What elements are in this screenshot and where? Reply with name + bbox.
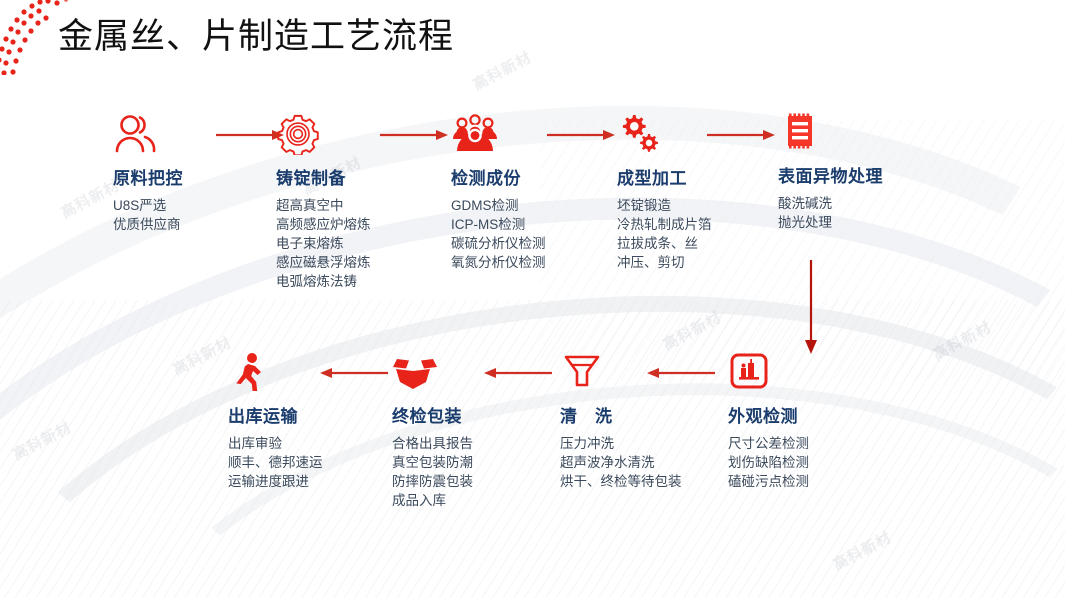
step-detail-line: 压力冲洗 bbox=[560, 434, 690, 453]
step-detail-line: 感应磁悬浮熔炼 bbox=[276, 253, 394, 272]
step-detail-line: 烘干、终检等待包装 bbox=[560, 472, 690, 491]
flow-step-ingot-preparation[interactable]: 铸锭制备 超高真空中 高频感应炉熔炼 电子束熔炼 感应磁悬浮熔炼 电弧熔炼法铸 bbox=[276, 110, 476, 291]
flow-step-appearance-inspection[interactable]: 外观检测 尺寸公差检测 划伤缺陷检测 磕碰污点检测 bbox=[728, 348, 928, 491]
step-detail-line: 超声波净水清洗 bbox=[560, 453, 690, 472]
step-detail-line: 尺寸公差检测 bbox=[728, 434, 858, 453]
document-stamp-filled-icon bbox=[778, 108, 978, 156]
step-detail-line: 成品入库 bbox=[392, 491, 510, 510]
step-detail-line: ICP-MS检测 bbox=[451, 215, 569, 234]
step-detail-line: 真空包装防潮 bbox=[392, 453, 510, 472]
watermark: 高科新材 bbox=[469, 46, 535, 95]
flow-step-surface-foreign-matter-treatment[interactable]: 表面异物处理 酸洗碱洗 抛光处理 bbox=[778, 108, 978, 232]
step-detail-line: 电子束熔炼 bbox=[276, 234, 394, 253]
flow-arrow-down bbox=[800, 258, 822, 358]
step-detail-line: 磕碰污点检测 bbox=[728, 472, 858, 491]
step-detail-line: 坯锭锻造 bbox=[617, 196, 747, 215]
step-detail-line: 冷热轧制成片箔 bbox=[617, 215, 747, 234]
step-title: 外观检测 bbox=[728, 402, 928, 427]
step-detail-line: 碳硫分析仪检测 bbox=[451, 234, 569, 253]
step-detail-line: 拉拔成条、丝 bbox=[617, 234, 747, 253]
page-title: 金属丝、片制造工艺流程 bbox=[58, 8, 454, 59]
step-detail-line: 顺丰、德邦速运 bbox=[228, 453, 358, 472]
step-detail-line: 合格出具报告 bbox=[392, 434, 510, 453]
step-title: 表面异物处理 bbox=[778, 162, 978, 187]
step-detail-line: GDMS检测 bbox=[451, 196, 569, 215]
step-detail-line: 超高真空中 bbox=[276, 196, 394, 215]
step-title: 铸锭制备 bbox=[276, 164, 476, 189]
step-detail-line: 氧氮分析仪检测 bbox=[451, 253, 569, 272]
step-detail-line: 优质供应商 bbox=[113, 215, 231, 234]
watermark: 高科新材 bbox=[9, 416, 75, 465]
inspection-box-outline-icon bbox=[728, 348, 928, 396]
watermark: 高科新材 bbox=[169, 331, 235, 380]
gear-target-outline-icon bbox=[276, 110, 476, 158]
watermark: 高科新材 bbox=[929, 316, 995, 365]
step-detail-line: 划伤缺陷检测 bbox=[728, 453, 858, 472]
step-detail-line: 出库审验 bbox=[228, 434, 358, 453]
step-detail-line: 运输进度跟进 bbox=[228, 472, 358, 491]
step-detail-line: 抛光处理 bbox=[778, 213, 896, 232]
step-detail-line: 冲压、剪切 bbox=[617, 253, 747, 272]
step-detail-line: 酸洗碱洗 bbox=[778, 194, 896, 213]
step-detail-list: 超高真空中 高频感应炉熔炼 电子束熔炼 感应磁悬浮熔炼 电弧熔炼法铸 bbox=[276, 196, 476, 291]
step-detail-line: 高频感应炉熔炼 bbox=[276, 215, 394, 234]
watermark: 高科新材 bbox=[829, 526, 895, 575]
step-detail-list: 酸洗碱洗 抛光处理 bbox=[778, 194, 978, 232]
step-detail-line: 电弧熔炼法铸 bbox=[276, 272, 394, 291]
step-detail-line: U8S严选 bbox=[113, 196, 231, 215]
step-detail-line: 防摔防震包装 bbox=[392, 472, 510, 491]
step-detail-list: 尺寸公差检测 划伤缺陷检测 磕碰污点检测 bbox=[728, 434, 928, 491]
